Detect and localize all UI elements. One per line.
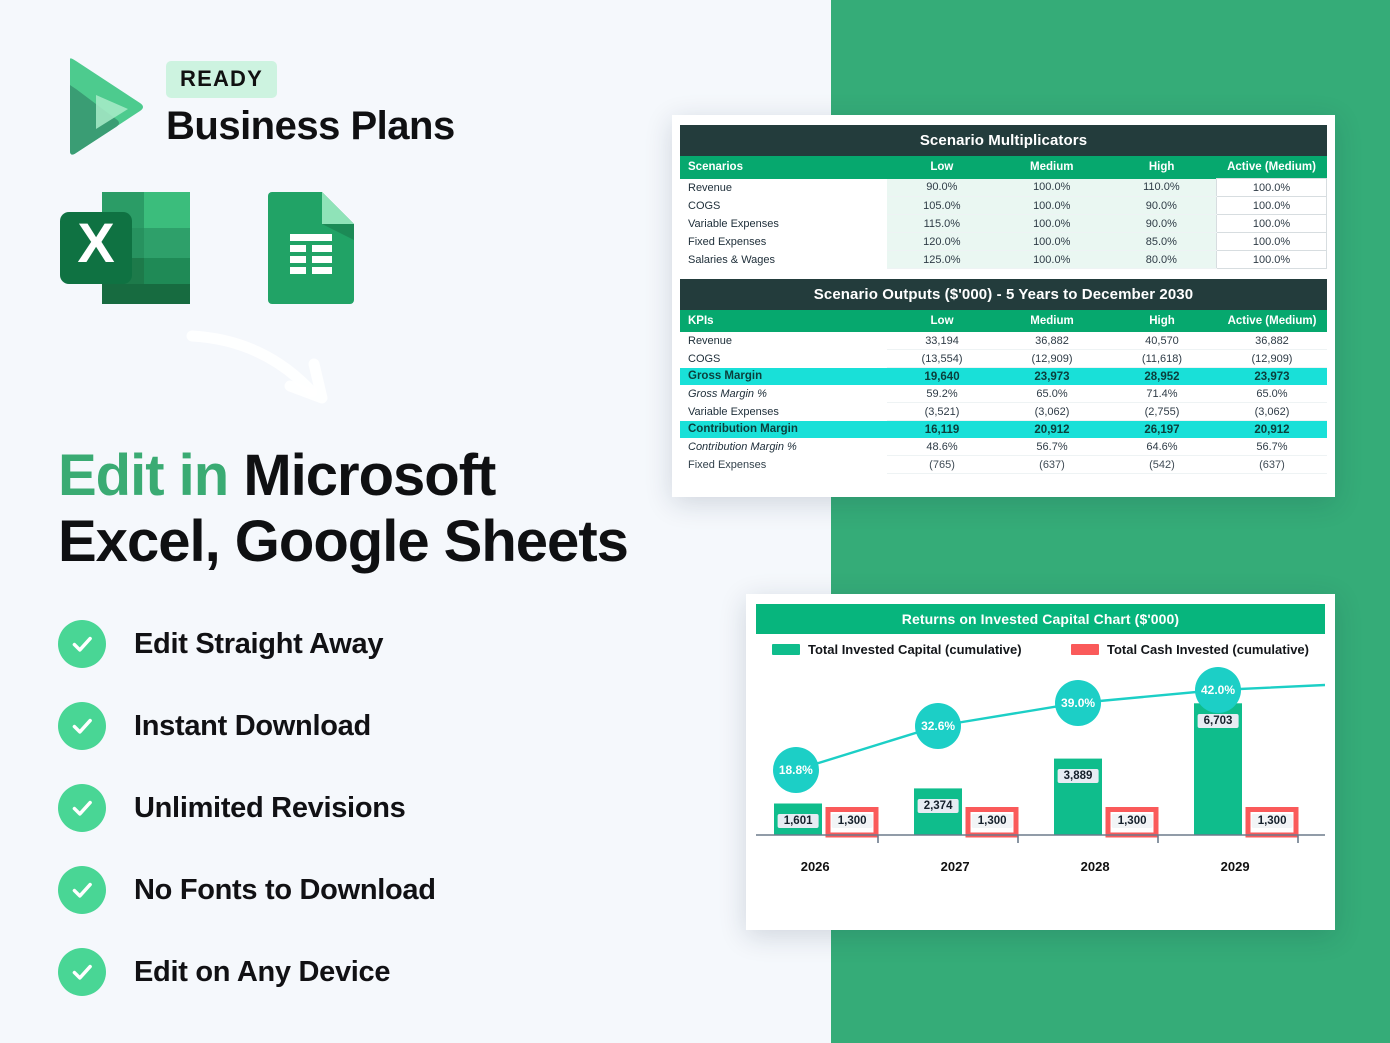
scenario-outputs-table: KPIs Low Medium High Active (Medium) Rev… [680, 310, 1327, 474]
column-header: High [1107, 156, 1217, 179]
table-row: Gross Margin % 59.2% 65.0% 71.4% 65.0% [680, 385, 1327, 403]
cell-high: 28,952 [1107, 368, 1217, 386]
row-label: Contribution Margin % [680, 438, 887, 456]
cell-high: 110.0% [1107, 179, 1217, 197]
x-axis-label-2028: 2028 [1081, 859, 1110, 874]
table-row: Fixed Expenses (765) (637) (542) (637) [680, 456, 1327, 474]
table-row: Revenue 90.0% 100.0% 110.0% 100.0% [680, 179, 1327, 197]
headline-line2: Excel, Google Sheets [58, 509, 628, 574]
cell-high: 90.0% [1107, 197, 1217, 215]
legend-item-invested-capital: Total Invested Capital (cumulative) [772, 642, 1022, 657]
cell-high: 80.0% [1107, 251, 1217, 269]
cell-high: 85.0% [1107, 233, 1217, 251]
cell-high: 71.4% [1107, 385, 1217, 403]
cell-medium: (12,909) [997, 350, 1107, 368]
row-label: Fixed Expenses [680, 456, 887, 474]
table-spacer [680, 269, 1327, 279]
svg-text:X: X [77, 211, 114, 274]
legend-label: Total Invested Capital (cumulative) [808, 642, 1022, 657]
bar-label-invested-2028: 3,889 [1058, 769, 1099, 783]
legend-swatch-icon [1071, 644, 1099, 655]
legend-item-cash-invested: Total Cash Invested (cumulative) [1071, 642, 1309, 657]
row-label: Gross Margin % [680, 385, 887, 403]
check-circle-icon [58, 948, 106, 996]
headline-accent: Edit in [58, 443, 228, 508]
column-header: Low [887, 310, 997, 332]
cell-low: (765) [887, 456, 997, 474]
feature-label: Instant Download [134, 710, 371, 743]
cell-low: 19,640 [887, 368, 997, 386]
cell-medium: 100.0% [997, 251, 1107, 269]
table-header: Scenarios Low Medium High Active (Medium… [680, 156, 1327, 179]
cell-high: 40,570 [1107, 332, 1217, 350]
list-item: Unlimited Revisions [58, 784, 436, 832]
list-item: Edit Straight Away [58, 620, 436, 668]
cell-high: (11,618) [1107, 350, 1217, 368]
column-header: High [1107, 310, 1217, 332]
multipliers-title: Scenario Multiplicators [680, 125, 1327, 156]
cell-active[interactable]: 100.0% [1217, 233, 1327, 251]
roic-bubble-2028: 39.0% [1055, 680, 1101, 726]
check-circle-icon [58, 784, 106, 832]
chart-title: Returns on Invested Capital Chart ($'000… [756, 604, 1325, 634]
headline-rest: Microsoft [228, 443, 495, 508]
cell-medium: 100.0% [997, 197, 1107, 215]
x-axis-label-3029: 2029 [1221, 859, 1250, 874]
column-header: KPIs [680, 310, 887, 332]
roic-bubble-2027: 32.6% [915, 703, 961, 749]
roic-bubble-2026: 18.8% [773, 747, 819, 793]
cell-active[interactable]: 100.0% [1217, 215, 1327, 233]
row-label: COGS [680, 197, 887, 215]
app-icons-row: X [58, 190, 358, 306]
cell-low: 59.2% [887, 385, 997, 403]
cell-high: (542) [1107, 456, 1217, 474]
cell-low: 16,119 [887, 421, 997, 439]
list-item: Instant Download [58, 702, 436, 750]
cell-low: 125.0% [887, 251, 997, 269]
cell-low: (3,521) [887, 403, 997, 421]
list-item: Edit on Any Device [58, 948, 436, 996]
table-row: Salaries & Wages 125.0% 100.0% 80.0% 100… [680, 251, 1327, 269]
microsoft-excel-icon: X [58, 190, 192, 306]
table-header: KPIs Low Medium High Active (Medium) [680, 310, 1327, 332]
cell-high: 64.6% [1107, 438, 1217, 456]
table-row: Variable Expenses 115.0% 100.0% 90.0% 10… [680, 215, 1327, 233]
feature-label: No Fonts to Download [134, 874, 436, 907]
chart-plot-area: 18.8% 32.6% 39.0% 42.0% 1,601 2,374 3,88… [756, 663, 1325, 878]
cell-low: 90.0% [887, 179, 997, 197]
table-row-highlight: Contribution Margin 16,119 20,912 26,197… [680, 421, 1327, 439]
cell-medium: 36,882 [997, 332, 1107, 350]
row-label: Revenue [680, 332, 887, 350]
page-title: Edit in Microsoft Excel, Google Sheets [58, 443, 758, 574]
row-label: COGS [680, 350, 887, 368]
poster-root: READY Business Plans X [0, 0, 1390, 1043]
cell-high: 26,197 [1107, 421, 1217, 439]
cell-medium: 65.0% [997, 385, 1107, 403]
chart-preview-card: Returns on Invested Capital Chart ($'000… [746, 594, 1335, 930]
cell-active: 56.7% [1217, 438, 1327, 456]
spreadsheet-preview-card: Scenario Multiplicators Scenarios Low Me… [672, 115, 1335, 497]
cell-medium: 100.0% [997, 233, 1107, 251]
x-axis-label-2027: 2027 [941, 859, 970, 874]
column-header: Scenarios [680, 156, 887, 179]
cell-active[interactable]: 100.0% [1217, 251, 1327, 269]
cell-active[interactable]: 100.0% [1217, 179, 1327, 197]
cell-low: (13,554) [887, 350, 997, 368]
bar-label-cash-2027: 1,300 [972, 814, 1013, 828]
feature-label: Unlimited Revisions [134, 792, 405, 825]
check-circle-icon [58, 702, 106, 750]
row-label: Revenue [680, 179, 887, 197]
bar-label-cash-2028: 1,300 [1112, 814, 1153, 828]
table-row: COGS 105.0% 100.0% 90.0% 100.0% [680, 197, 1327, 215]
x-axis-label-2026: 2026 [801, 859, 830, 874]
column-header: Active (Medium) [1217, 310, 1327, 332]
brand-logo: READY Business Plans [58, 55, 455, 155]
cell-medium: 20,912 [997, 421, 1107, 439]
table-row-highlight: Gross Margin 19,640 23,973 28,952 23,973 [680, 368, 1327, 386]
bar-label-cash-2026: 1,300 [832, 814, 873, 828]
table-row: Variable Expenses (3,521) (3,062) (2,755… [680, 403, 1327, 421]
cell-active: (3,062) [1217, 403, 1327, 421]
row-label: Gross Margin [680, 368, 887, 386]
cell-medium: 100.0% [997, 215, 1107, 233]
column-header: Low [887, 156, 997, 179]
cell-low: 105.0% [887, 197, 997, 215]
outputs-title: Scenario Outputs ($'000) - 5 Years to De… [680, 279, 1327, 310]
curved-down-arrow-icon [186, 330, 356, 430]
row-label: Contribution Margin [680, 421, 887, 439]
scenario-multiplicators-table: Scenarios Low Medium High Active (Medium… [680, 156, 1327, 269]
check-circle-icon [58, 866, 106, 914]
brand-name: Business Plans [166, 104, 455, 149]
feature-label: Edit Straight Away [134, 628, 383, 661]
cell-active: 36,882 [1217, 332, 1327, 350]
brand-text-column: READY Business Plans [166, 61, 455, 149]
column-header: Active (Medium) [1217, 156, 1327, 179]
table-row: Revenue 33,194 36,882 40,570 36,882 [680, 332, 1327, 350]
column-header: Medium [997, 156, 1107, 179]
bar-label-invested-2029: 6,703 [1198, 714, 1239, 728]
cell-active: (12,909) [1217, 350, 1327, 368]
legend-swatch-icon [772, 644, 800, 655]
table-row: COGS (13,554) (12,909) (11,618) (12,909) [680, 350, 1327, 368]
cell-medium: (3,062) [997, 403, 1107, 421]
cell-active: (637) [1217, 456, 1327, 474]
cell-low: 48.6% [887, 438, 997, 456]
cell-active: 20,912 [1217, 421, 1327, 439]
cell-medium: 100.0% [997, 179, 1107, 197]
feature-label: Edit on Any Device [134, 956, 390, 989]
legend-label: Total Cash Invested (cumulative) [1107, 642, 1309, 657]
cell-low: 115.0% [887, 215, 997, 233]
play-triangle-logo-icon [58, 55, 146, 155]
roic-bubble-2029: 42.0% [1195, 667, 1241, 713]
row-label: Variable Expenses [680, 403, 887, 421]
google-sheets-icon [264, 190, 358, 306]
cell-medium: (637) [997, 456, 1107, 474]
cell-low: 120.0% [887, 233, 997, 251]
column-header: Medium [997, 310, 1107, 332]
cell-active[interactable]: 100.0% [1217, 197, 1327, 215]
cell-high: 90.0% [1107, 215, 1217, 233]
ready-badge: READY [166, 61, 277, 98]
bar-label-invested-2027: 2,374 [918, 799, 959, 813]
feature-list: Edit Straight Away Instant Download Unli… [58, 620, 436, 996]
table-row: Contribution Margin % 48.6% 56.7% 64.6% … [680, 438, 1327, 456]
cell-medium: 56.7% [997, 438, 1107, 456]
row-label: Salaries & Wages [680, 251, 887, 269]
list-item: No Fonts to Download [58, 866, 436, 914]
chart-legend: Total Invested Capital (cumulative) Tota… [756, 634, 1325, 659]
table-row: Fixed Expenses 120.0% 100.0% 85.0% 100.0… [680, 233, 1327, 251]
bar-label-invested-2026: 1,601 [778, 814, 819, 828]
cell-high: (2,755) [1107, 403, 1217, 421]
cell-active: 65.0% [1217, 385, 1327, 403]
cell-active: 23,973 [1217, 368, 1327, 386]
cell-low: 33,194 [887, 332, 997, 350]
row-label: Variable Expenses [680, 215, 887, 233]
check-circle-icon [58, 620, 106, 668]
bar-label-cash-2029: 1,300 [1252, 814, 1293, 828]
row-label: Fixed Expenses [680, 233, 887, 251]
cell-medium: 23,973 [997, 368, 1107, 386]
